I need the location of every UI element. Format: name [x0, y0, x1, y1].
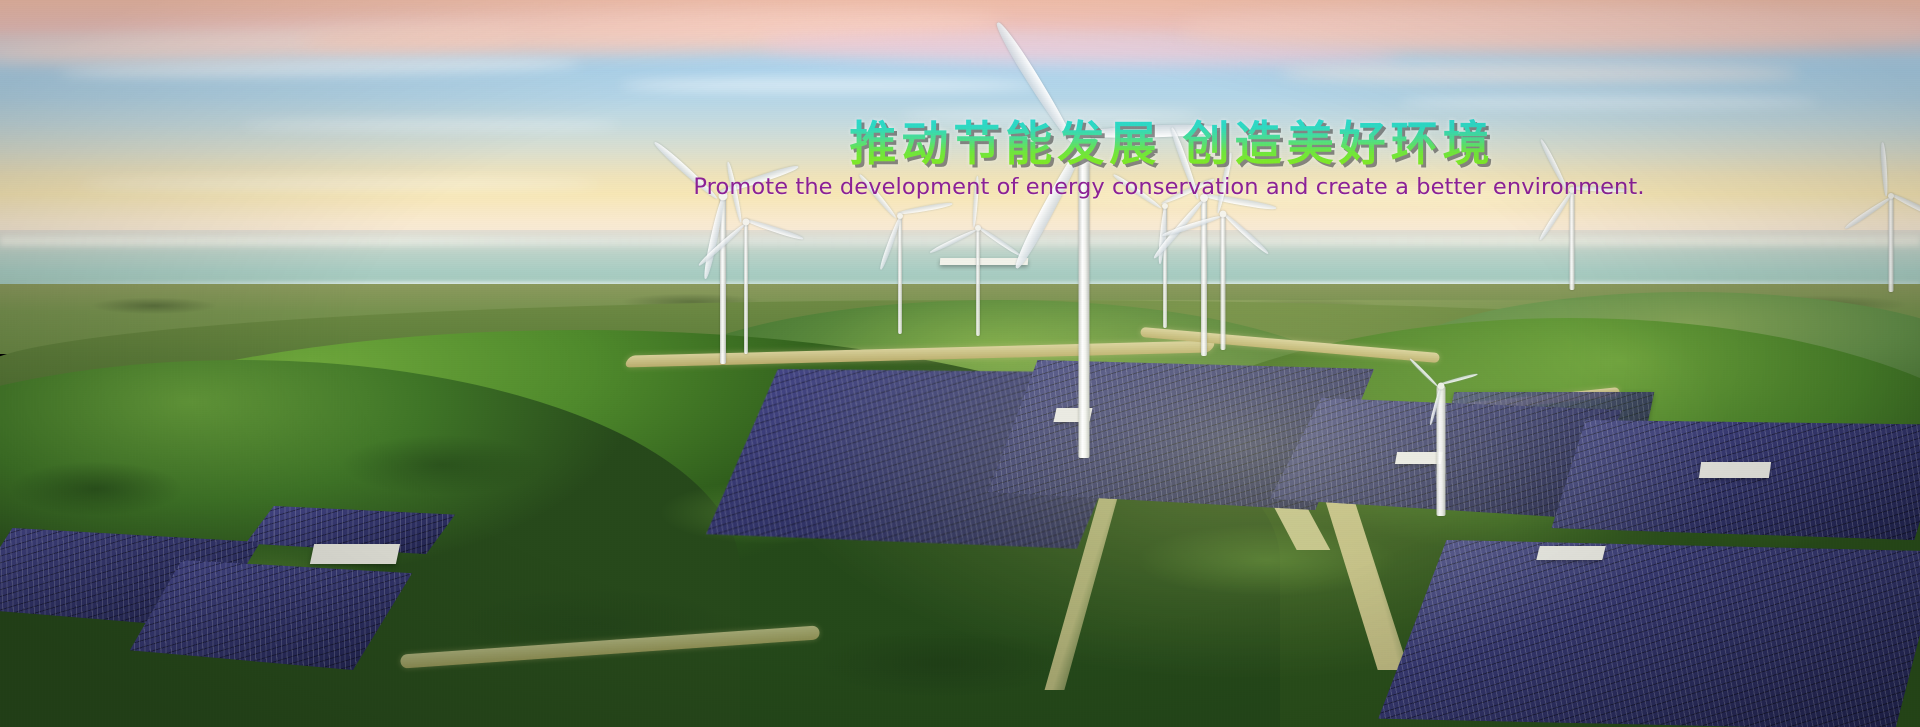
turbine-hub: [1162, 203, 1168, 209]
turbine-hub: [1219, 211, 1226, 218]
substation-building: [310, 544, 400, 564]
banner-subtitle-text: Promote the development of energy conser…: [693, 174, 1644, 200]
turbine-tower: [1436, 386, 1445, 516]
turbine-tower: [744, 222, 748, 354]
solar-array: [1549, 420, 1920, 540]
turbine-tower: [898, 216, 902, 334]
turbine-hub: [897, 213, 903, 219]
banner-subtitle: Promote the development of energy conser…: [0, 174, 1920, 200]
turbine-tower: [976, 228, 980, 336]
banner-hero: 推动节能发展 创造美好环境 Promote the development of…: [0, 0, 1920, 727]
turbine-tower: [1220, 214, 1225, 350]
sky-sunset-band: [0, 0, 1920, 60]
turbine-hub: [975, 225, 981, 231]
turbine-hub: [742, 219, 749, 226]
banner-headline-text: 推动节能发展 创造美好环境: [849, 118, 1494, 172]
banner-headline: 推动节能发展 创造美好环境: [0, 118, 1920, 172]
turbine-tower: [1569, 190, 1574, 290]
solar-array: [1377, 540, 1920, 727]
turbine-hub: [1437, 383, 1444, 390]
turbine-tower: [1888, 196, 1893, 292]
substation-building: [1536, 546, 1605, 560]
substation-building: [1699, 462, 1771, 478]
